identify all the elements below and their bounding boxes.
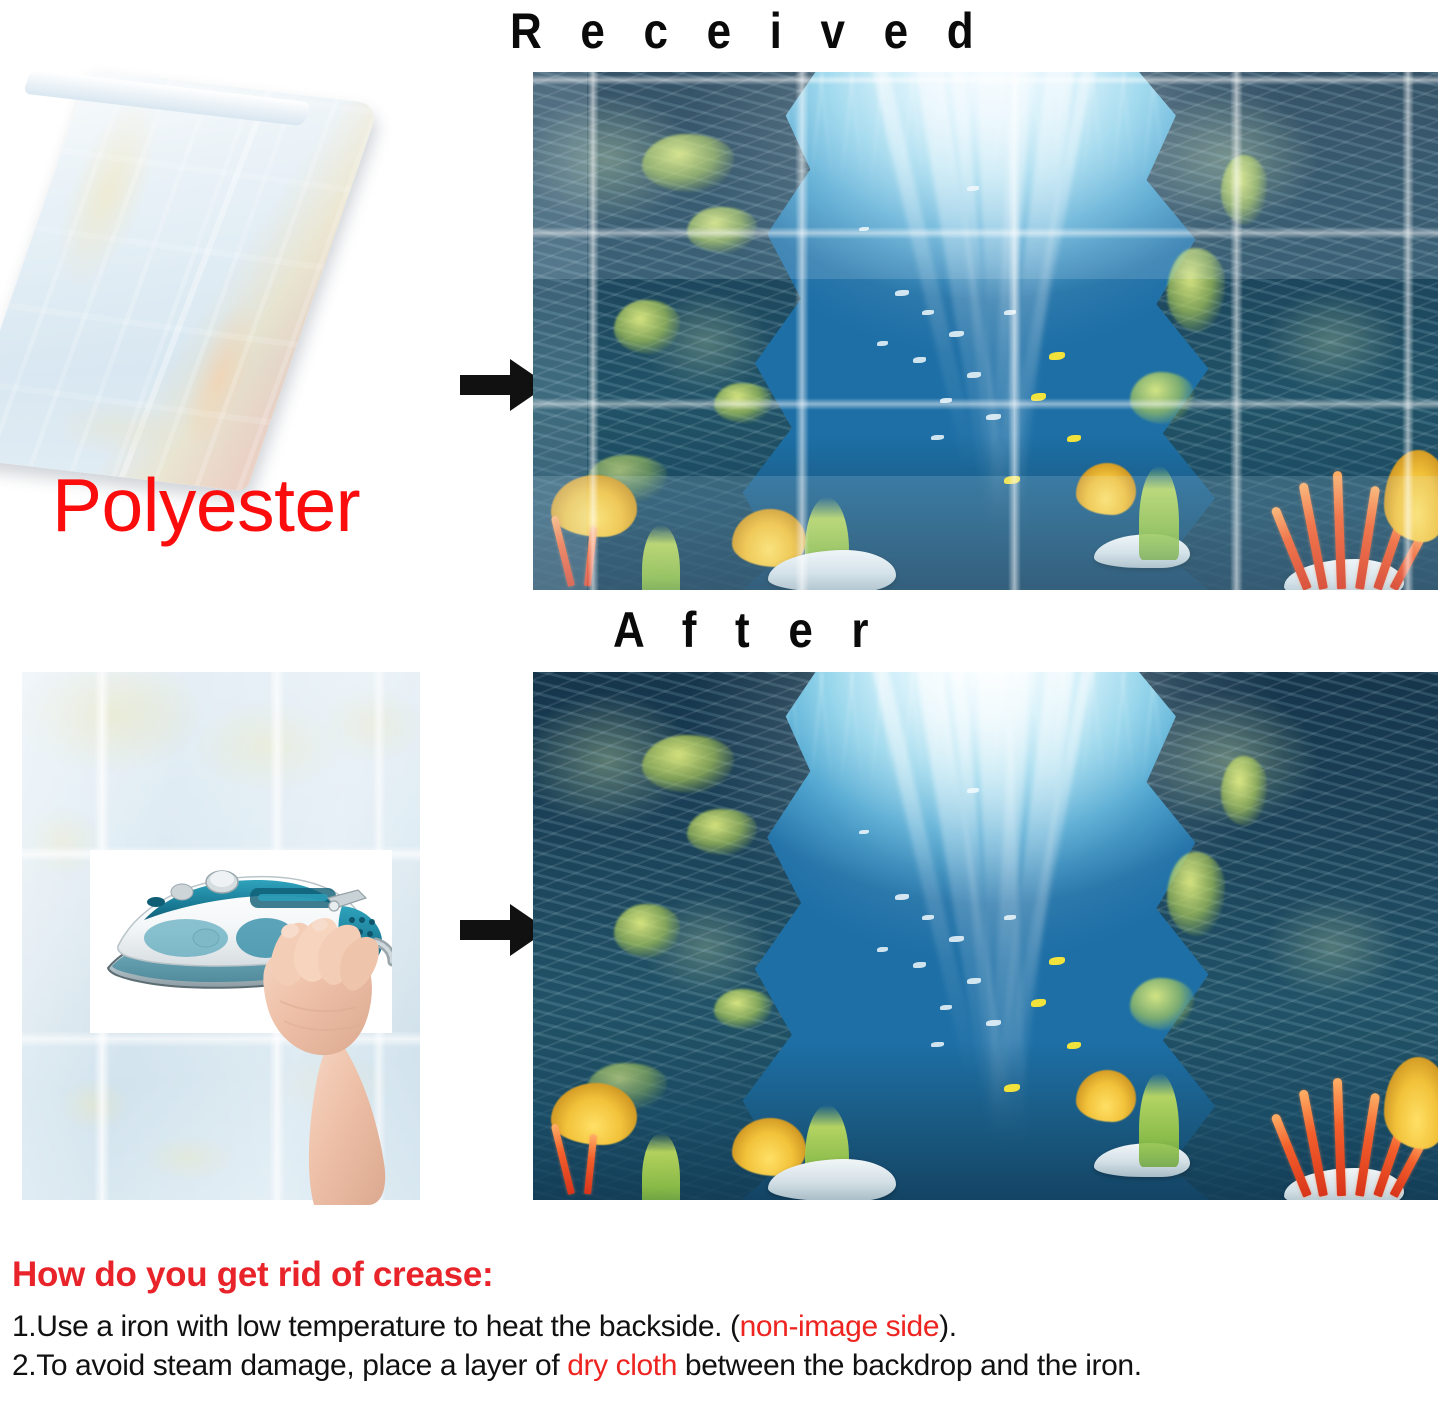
hand-icon bbox=[250, 915, 420, 1205]
instruction-2-text-a: 2.To avoid steam damage, place a layer o… bbox=[12, 1349, 567, 1382]
polyester-caption: Polyester bbox=[52, 462, 360, 548]
infographic-page: R e c e i v e d Polyester bbox=[0, 0, 1438, 1402]
instruction-line-1: 1.Use a iron with low temperature to hea… bbox=[12, 1307, 1432, 1346]
instruction-line-2: 2.To avoid steam damage, place a layer o… bbox=[12, 1346, 1432, 1385]
after-heading: A f t e r bbox=[613, 601, 882, 659]
instruction-2-highlight: dry cloth bbox=[567, 1349, 677, 1382]
received-heading: R e c e i v e d bbox=[510, 2, 987, 60]
folded-fabric-sheet bbox=[0, 70, 380, 491]
instruction-2-text-b: between the backdrop and the iron. bbox=[677, 1349, 1142, 1382]
reef-floor bbox=[533, 435, 1438, 590]
folded-fabric-photo bbox=[10, 72, 430, 492]
instruction-1-text-a: 1.Use a iron with low temperature to hea… bbox=[12, 1310, 740, 1343]
after-backdrop-image bbox=[533, 672, 1438, 1200]
red-coral-left bbox=[560, 506, 610, 586]
instruction-1-highlight: non-image side bbox=[740, 1310, 940, 1343]
red-coral-left bbox=[560, 1114, 610, 1194]
instructions-title: How do you get rid of crease: bbox=[12, 1255, 1432, 1295]
instruction-1-text-b: ). bbox=[939, 1310, 957, 1343]
received-backdrop-image bbox=[533, 72, 1438, 590]
reef-floor bbox=[533, 1042, 1438, 1200]
instructions-block: How do you get rid of crease: 1.Use a ir… bbox=[12, 1255, 1432, 1385]
